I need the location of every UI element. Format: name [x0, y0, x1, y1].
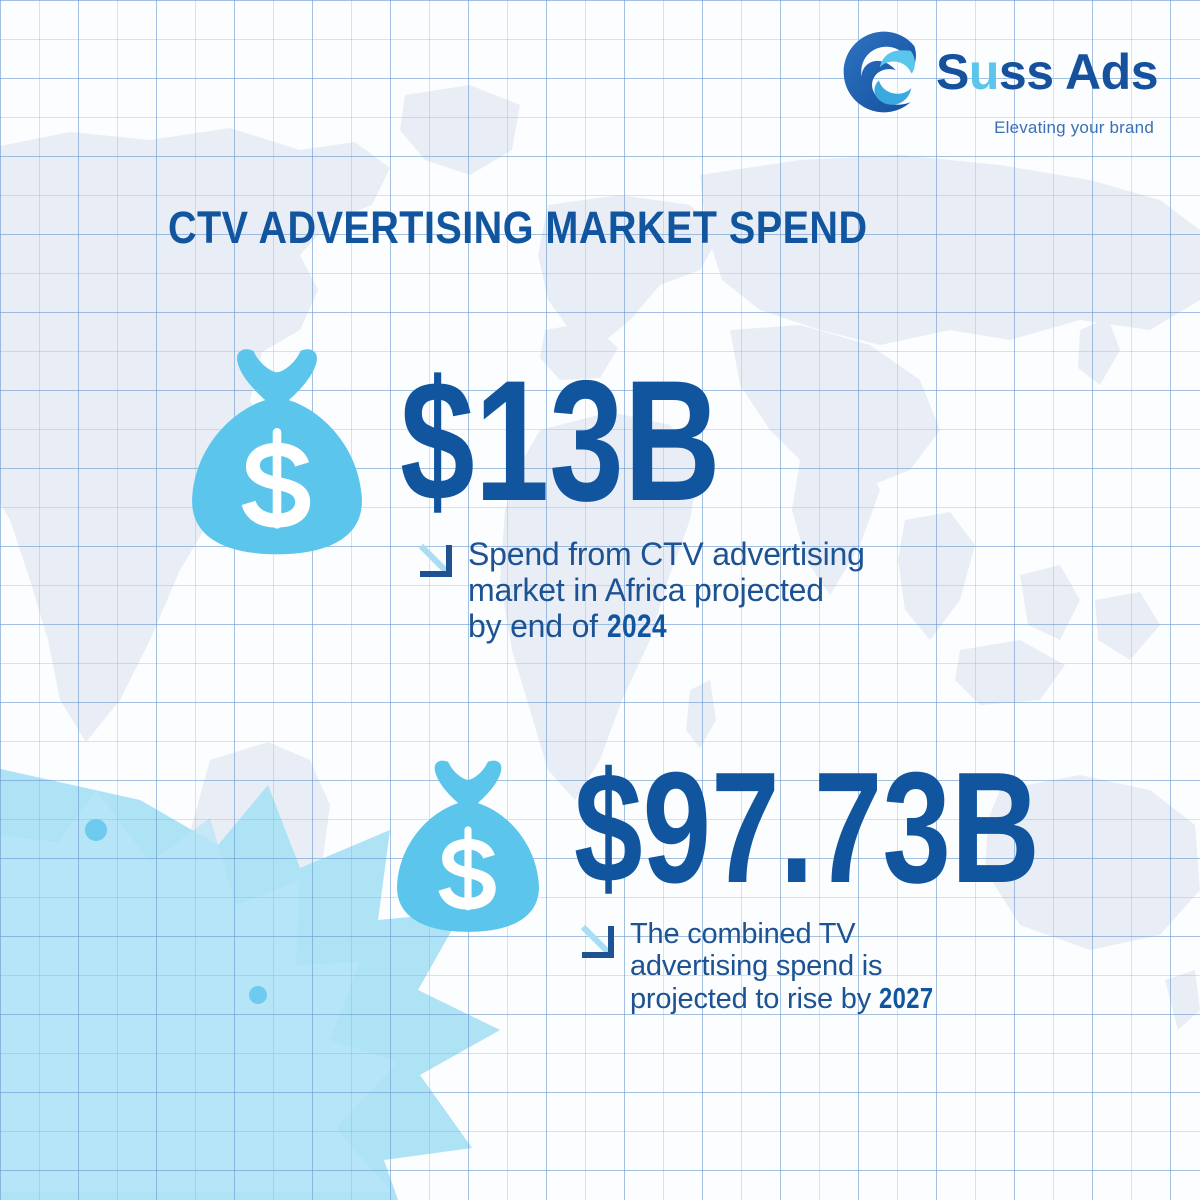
stat-1-figure: $13B	[400, 362, 721, 520]
stat-1-note-text: Spend from CTV advertising market in Afr…	[468, 537, 865, 644]
stat-1-note-line3-prefix: by end of	[468, 608, 607, 644]
arrow-down-right-icon	[580, 924, 616, 960]
stat-2-headline-row: $97.73B	[392, 748, 1171, 936]
arrow-down-right-icon	[418, 543, 454, 579]
page-title: CTV ADVERTISING MARKET SPEND	[168, 205, 868, 250]
stat-2-note-line1: The combined TV	[630, 918, 855, 950]
money-bag-icon	[186, 344, 368, 559]
stat-2-year: 2027	[879, 983, 934, 1015]
stat-1-headline-row: $13B	[186, 340, 865, 559]
brand-logo[interactable]: Suss Ads Elevating your brand	[842, 30, 1158, 138]
logo-row: Suss Ads	[842, 30, 1158, 114]
stat-2-figure: $97.73B	[574, 756, 1040, 901]
brand-name-part1: S	[936, 44, 969, 100]
stat-2-note-text: The combined TV advertising spend is pro…	[630, 918, 945, 1015]
stat-block-1: $13B Spend from CTV advertising market i…	[186, 340, 865, 644]
stat-1-year: 2024	[607, 609, 667, 645]
brand-wordmark: Suss Ads	[936, 47, 1158, 97]
stat-block-2: $97.73B The combined TV advertising spen…	[392, 748, 1171, 1015]
brand-name-part2: ss Ads	[999, 44, 1158, 100]
money-bag-icon	[392, 756, 544, 936]
stat-2-note-line2: advertising spend is	[630, 950, 882, 982]
stat-1-note: Spend from CTV advertising market in Afr…	[418, 537, 865, 644]
stat-2-note-line3-prefix: projected to rise by	[630, 983, 879, 1015]
globe-s-swoosh-icon	[842, 30, 926, 114]
brand-tagline: Elevating your brand	[994, 118, 1154, 138]
stat-1-note-line2: market in Africa projected	[468, 572, 824, 608]
stat-1-note-line1: Spend from CTV advertising	[468, 536, 865, 572]
stat-2-note: The combined TV advertising spend is pro…	[580, 918, 1171, 1015]
brand-name-accent: u	[969, 44, 999, 100]
